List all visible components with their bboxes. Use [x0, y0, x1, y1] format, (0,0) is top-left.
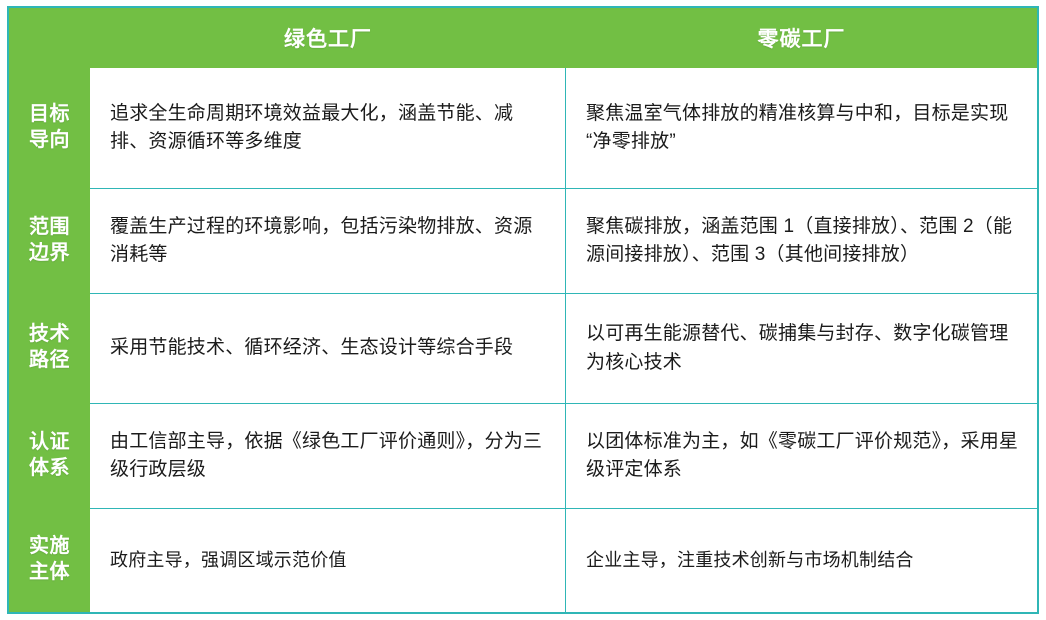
table-row: 由工信部主导，依据《绿色工厂评价通则》，分为三级行政层级 以团体标准为主，如《零… — [9, 403, 1037, 508]
cell-green-factory-goal: 追求全生命周期环境效益最大化，涵盖节能、减排、资源循环等多维度 — [90, 68, 566, 188]
cell-zero-carbon-technology: 以可再生能源替代、碳捕集与封存、数字化碳管理为核心技术 — [566, 294, 1037, 403]
table-row: 覆盖生产过程的环境影响，包括污染物排放、资源消耗等 聚焦碳排放，涵盖范围 1（直… — [9, 188, 1037, 293]
row-label-scope-boundary: 范围 边界 — [9, 188, 90, 293]
table-row: 政府主导，强调区域示范价值 企业主导，注重技术创新与市场机制结合 — [9, 508, 1037, 612]
row-label-implementation-subject: 实施 主体 — [9, 508, 90, 612]
row-label-certification-system: 认证 体系 — [9, 403, 90, 508]
comparison-table: 维度 绿色工厂 零碳工厂 目标 导向 范围 边界 技术 路径 认证 体系 实施 … — [7, 6, 1039, 614]
cell-zero-carbon-scope: 聚焦碳排放，涵盖范围 1（直接排放）、范围 2（能源间接排放）、范围 3（其他间… — [566, 189, 1037, 293]
cell-text: 以团体标准为主，如《零碳工厂评价规范》，采用星级评定体系 — [586, 428, 1019, 484]
cell-green-factory-subject: 政府主导，强调区域示范价值 — [90, 509, 566, 612]
table-body: 追求全生命周期环境效益最大化，涵盖节能、减排、资源循环等多维度 聚焦温室气体排放… — [9, 68, 1037, 612]
cell-text: 聚焦碳排放，涵盖范围 1（直接排放）、范围 2（能源间接排放）、范围 3（其他间… — [586, 213, 1019, 269]
cell-text: 由工信部主导，依据《绿色工厂评价通则》，分为三级行政层级 — [110, 428, 547, 484]
cell-zero-carbon-goal: 聚焦温室气体排放的精准核算与中和，目标是实现“净零排放” — [566, 68, 1037, 188]
cell-text: 追求全生命周期环境效益最大化，涵盖节能、减排、资源循环等多维度 — [110, 100, 547, 156]
cell-text: 以可再生能源替代、碳捕集与封存、数字化碳管理为核心技术 — [586, 320, 1019, 376]
column-header-zero-carbon-factory: 零碳工厂 — [566, 8, 1037, 68]
column-header-green-factory: 绿色工厂 — [90, 8, 566, 68]
table-row: 追求全生命周期环境效益最大化，涵盖节能、减排、资源循环等多维度 聚焦温室气体排放… — [9, 68, 1037, 188]
cell-text: 聚焦温室气体排放的精准核算与中和，目标是实现“净零排放” — [586, 100, 1019, 156]
cell-green-factory-technology: 采用节能技术、循环经济、生态设计等综合手段 — [90, 294, 566, 403]
cell-zero-carbon-certification: 以团体标准为主，如《零碳工厂评价规范》，采用星级评定体系 — [566, 404, 1037, 508]
page-root: 维度 绿色工厂 零碳工厂 目标 导向 范围 边界 技术 路径 认证 体系 实施 … — [0, 0, 1046, 620]
row-label-technology-path: 技术 路径 — [9, 293, 90, 403]
cell-green-factory-certification: 由工信部主导，依据《绿色工厂评价通则》，分为三级行政层级 — [90, 404, 566, 508]
cell-green-factory-scope: 覆盖生产过程的环境影响，包括污染物排放、资源消耗等 — [90, 189, 566, 293]
table-header-row: 维度 绿色工厂 零碳工厂 — [9, 8, 1037, 68]
cell-text: 政府主导，强调区域示范价值 — [110, 547, 547, 574]
dimension-label-column: 目标 导向 范围 边界 技术 路径 认证 体系 实施 主体 — [9, 8, 90, 612]
row-label-goal-orientation: 目标 导向 — [9, 68, 90, 188]
cell-text: 覆盖生产过程的环境影响，包括污染物排放、资源消耗等 — [110, 213, 547, 269]
cell-text: 企业主导，注重技术创新与市场机制结合 — [586, 547, 1019, 574]
table-row: 采用节能技术、循环经济、生态设计等综合手段 以可再生能源替代、碳捕集与封存、数字… — [9, 293, 1037, 403]
cell-text: 采用节能技术、循环经济、生态设计等综合手段 — [110, 334, 547, 362]
cell-zero-carbon-subject: 企业主导，注重技术创新与市场机制结合 — [566, 509, 1037, 612]
